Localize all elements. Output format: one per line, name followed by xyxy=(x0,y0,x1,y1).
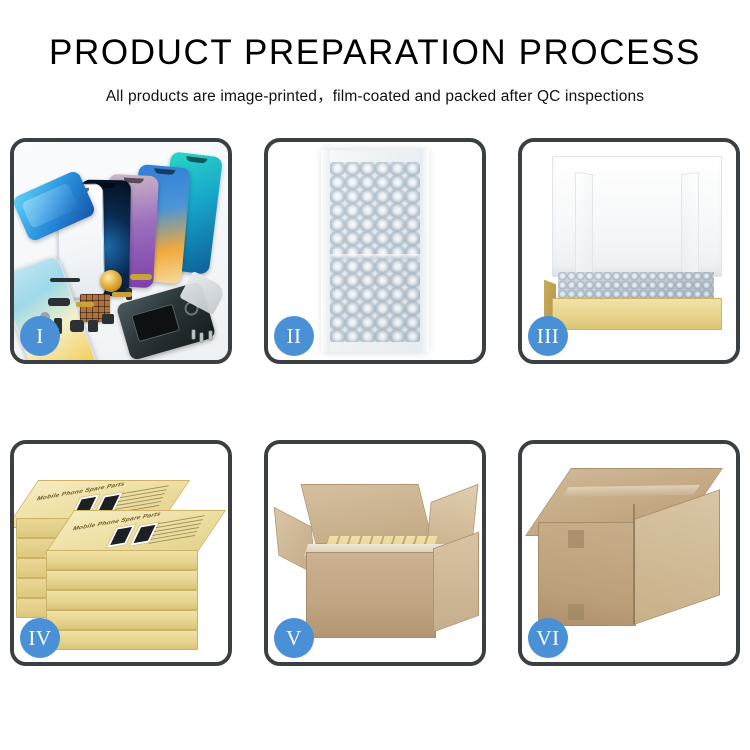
product-preparation-process-page: PRODUCT PREPARATION PROCESS All products… xyxy=(0,0,750,750)
wrap-edge-left xyxy=(321,150,330,352)
step-badge-6: VI xyxy=(528,618,568,658)
carton-front-face xyxy=(306,552,436,638)
sim-tray-part xyxy=(88,320,98,332)
screw xyxy=(192,330,195,339)
retail-box-front-5 xyxy=(46,630,198,650)
connector-part xyxy=(48,298,70,306)
lid-flap-right xyxy=(681,172,699,281)
box-spec-lines xyxy=(146,515,205,549)
phone-notch xyxy=(186,156,207,163)
header: PRODUCT PREPARATION PROCESS All products… xyxy=(0,0,750,106)
screw xyxy=(209,331,212,340)
carton-vertical-edge xyxy=(633,504,635,624)
step-panel-6: VI xyxy=(518,440,740,666)
inner-box-lid xyxy=(552,156,722,277)
step-panel-1: I xyxy=(10,138,232,364)
flex-cable-part xyxy=(76,302,94,307)
step-badge-1: I xyxy=(20,316,60,356)
inner-box-front-panel xyxy=(552,298,722,330)
carton-back-flap xyxy=(301,484,434,544)
step-badge-5: V xyxy=(274,618,314,658)
step-panel-3: III xyxy=(518,138,740,364)
retail-box-front-4 xyxy=(46,610,198,630)
wrap-edge-right xyxy=(420,150,429,352)
box-window-screen xyxy=(110,527,132,545)
carton-flap-tab-lower xyxy=(568,604,584,620)
bubble-wrap-field xyxy=(330,162,420,342)
flex-cable-part xyxy=(130,274,152,280)
step-panel-5: V xyxy=(264,440,486,666)
module-part xyxy=(102,314,114,324)
step-panel-2: II xyxy=(264,138,486,364)
phone-notch xyxy=(154,168,175,175)
lid-flap-left xyxy=(575,172,593,281)
screw xyxy=(200,333,203,342)
step-badge-3: III xyxy=(528,316,568,356)
step-badge-2: II xyxy=(274,316,314,356)
step-panel-4: Mobile Phone Spare Parts xyxy=(10,440,232,666)
earpiece-mesh-part xyxy=(50,278,80,282)
page-title: PRODUCT PREPARATION PROCESS xyxy=(0,34,750,73)
page-subtitle: All products are image-printed，film-coat… xyxy=(0,84,750,106)
taptic-part xyxy=(70,320,84,332)
process-steps-grid: I II xyxy=(10,138,740,666)
sealed-carton-front-face xyxy=(538,522,636,626)
retail-box-front-1 xyxy=(46,550,198,570)
step-badge-4: IV xyxy=(20,618,60,658)
bubble-pattern-secondary xyxy=(330,162,420,342)
screws-group xyxy=(192,330,218,344)
retail-box-front-3 xyxy=(46,590,198,610)
wrap-fold-line xyxy=(330,254,420,260)
bubble-wrap-sheet xyxy=(323,150,427,352)
vibration-coil-part xyxy=(100,270,122,292)
flex-cable-part xyxy=(112,292,132,297)
carton-side-face xyxy=(433,532,479,633)
carton-flap-tab-upper xyxy=(568,530,584,548)
retail-box-front-2 xyxy=(46,570,198,590)
bubble-wrapped-contents xyxy=(558,272,714,300)
